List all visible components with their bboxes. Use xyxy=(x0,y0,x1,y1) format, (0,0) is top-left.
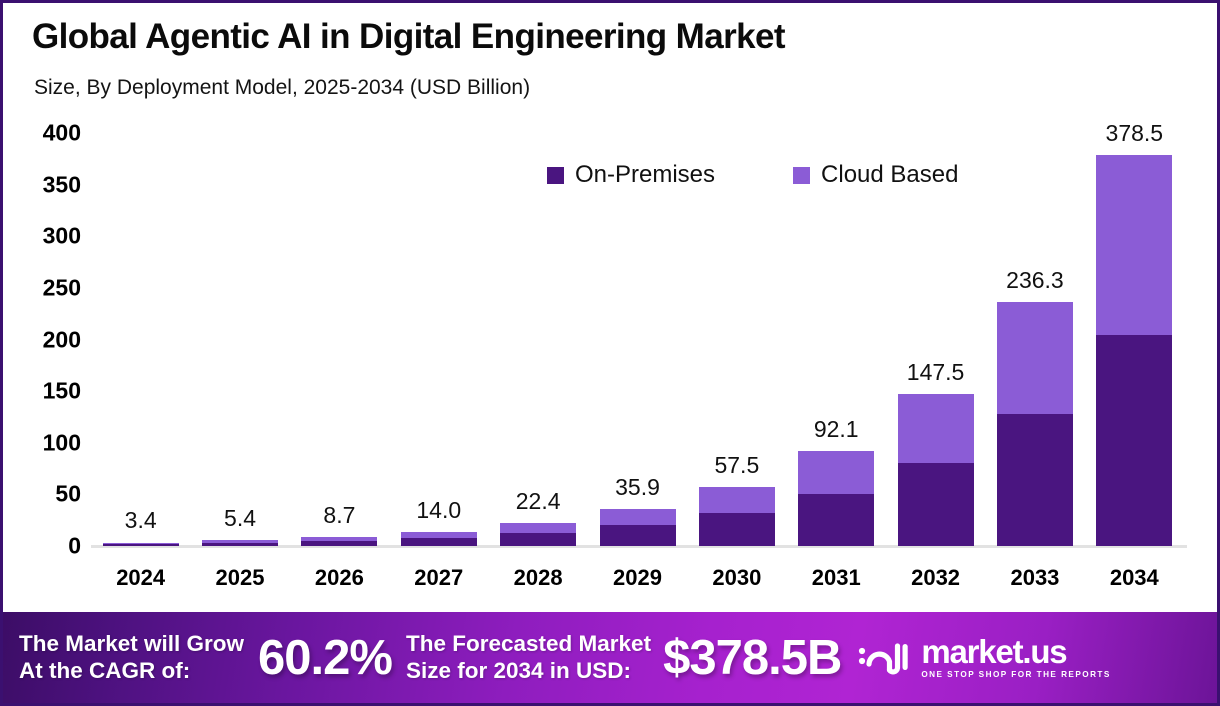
cagr-value: 60.2% xyxy=(258,630,392,686)
bar-column[interactable] xyxy=(301,537,377,546)
bar-segment-on-premises[interactable] xyxy=(202,543,278,546)
page-subtitle: Size, By Deployment Model, 2025-2034 (US… xyxy=(34,76,530,100)
x-axis-tick: 2029 xyxy=(613,565,662,591)
x-axis-tick: 2033 xyxy=(1010,565,1059,591)
bar-segment-on-premises[interactable] xyxy=(798,494,874,546)
cagr-caption: The Market will Grow At the CAGR of: xyxy=(19,631,244,683)
infographic-card: Global Agentic AI in Digital Engineering… xyxy=(0,0,1220,706)
forecast-size-value: $378.5B xyxy=(663,630,841,686)
y-axis-tick: 0 xyxy=(68,533,81,560)
bar-column[interactable] xyxy=(202,540,278,546)
bar-column[interactable] xyxy=(500,523,576,546)
brand-tagline: ONE STOP SHOP FOR THE REPORTS xyxy=(921,671,1110,679)
bar-value-label: 14.0 xyxy=(416,497,461,524)
x-axis-tick: 2027 xyxy=(414,565,463,591)
bar-column[interactable] xyxy=(401,532,477,546)
cagr-caption-line2: At the CAGR of: xyxy=(19,658,244,684)
bar-segment-on-premises[interactable] xyxy=(301,541,377,546)
bar-column[interactable] xyxy=(898,394,974,546)
footer-banner: The Market will Grow At the CAGR of: 60.… xyxy=(3,612,1217,703)
y-axis-tick: 200 xyxy=(43,326,81,353)
page-title: Global Agentic AI in Digital Engineering… xyxy=(32,17,785,57)
x-axis-tick: 2026 xyxy=(315,565,364,591)
bar-value-label: 8.7 xyxy=(323,502,355,529)
bar-segment-cloud-based[interactable] xyxy=(898,394,974,463)
cagr-caption-line1: The Market will Grow xyxy=(19,631,244,657)
bar-value-label: 22.4 xyxy=(516,488,561,515)
forecast-size-caption: The Forecasted Market Size for 2034 in U… xyxy=(406,631,651,683)
bar-column[interactable] xyxy=(997,302,1073,546)
brand-text: market.us ONE STOP SHOP FOR THE REPORTS xyxy=(921,635,1110,679)
bar-segment-on-premises[interactable] xyxy=(401,538,477,546)
y-axis-tick: 250 xyxy=(43,274,81,301)
y-axis-tick: 350 xyxy=(43,171,81,198)
bar-segment-on-premises[interactable] xyxy=(699,513,775,546)
x-axis-tick: 2024 xyxy=(116,565,165,591)
bar-value-label: 35.9 xyxy=(615,474,660,501)
brand-name: market.us xyxy=(921,635,1110,668)
bar-value-label: 3.4 xyxy=(125,507,157,534)
bar-segment-cloud-based[interactable] xyxy=(699,487,775,514)
bar-segment-on-premises[interactable] xyxy=(600,525,676,546)
bar-column[interactable] xyxy=(103,543,179,547)
bar-column[interactable] xyxy=(699,487,775,546)
bar-value-label: 236.3 xyxy=(1006,267,1064,294)
bar-segment-cloud-based[interactable] xyxy=(600,509,676,526)
y-axis-tick: 100 xyxy=(43,429,81,456)
y-axis-tick: 150 xyxy=(43,378,81,405)
y-axis: 050100150200250300350400 xyxy=(3,133,81,546)
bar-segment-on-premises[interactable] xyxy=(997,414,1073,546)
bar-column[interactable] xyxy=(1096,155,1172,546)
brand-logo[interactable]: market.us ONE STOP SHOP FOR THE REPORTS xyxy=(857,635,1110,679)
y-axis-tick: 50 xyxy=(55,481,81,508)
x-axis-tick: 2025 xyxy=(216,565,265,591)
bar-column[interactable] xyxy=(798,451,874,546)
bar-segment-cloud-based[interactable] xyxy=(997,302,1073,414)
bar-value-label: 57.5 xyxy=(714,452,759,479)
bar-value-label: 92.1 xyxy=(814,416,859,443)
y-axis-tick: 300 xyxy=(43,223,81,250)
bar-segment-on-premises[interactable] xyxy=(103,544,179,546)
bar-segment-cloud-based[interactable] xyxy=(500,523,576,533)
size-caption-line2: Size for 2034 in USD: xyxy=(406,658,651,684)
x-axis-tick: 2032 xyxy=(911,565,960,591)
x-axis-tick: 2028 xyxy=(514,565,563,591)
bar-segment-on-premises[interactable] xyxy=(500,533,576,546)
size-caption-line1: The Forecasted Market xyxy=(406,631,651,657)
x-axis-tick: 2030 xyxy=(712,565,761,591)
bar-segment-cloud-based[interactable] xyxy=(1096,155,1172,335)
x-axis-tick: 2031 xyxy=(812,565,861,591)
x-axis-tick: 2034 xyxy=(1110,565,1159,591)
bar-segment-on-premises[interactable] xyxy=(1096,335,1172,546)
bar-segment-cloud-based[interactable] xyxy=(798,451,874,494)
bar-column[interactable] xyxy=(600,509,676,546)
market-us-logo-icon xyxy=(857,637,911,677)
y-axis-tick: 400 xyxy=(43,120,81,147)
bar-value-label: 147.5 xyxy=(907,359,965,386)
bar-segment-on-premises[interactable] xyxy=(898,463,974,546)
bar-value-label: 378.5 xyxy=(1106,120,1164,147)
bar-value-label: 5.4 xyxy=(224,505,256,532)
